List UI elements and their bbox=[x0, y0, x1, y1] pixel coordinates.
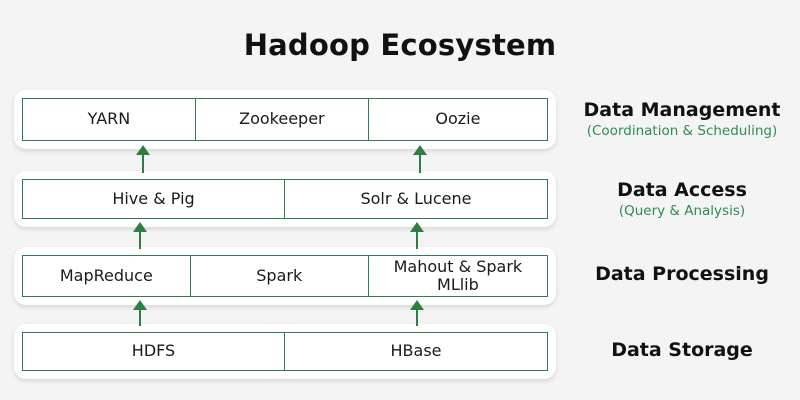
arrow-processing-to-access-right bbox=[410, 222, 424, 249]
layer-card-storage: HDFS HBase bbox=[14, 324, 556, 379]
page-title: Hadoop Ecosystem bbox=[0, 28, 800, 62]
arrow-access-to-management-left bbox=[136, 145, 150, 173]
layer-cell-yarn[interactable]: YARN bbox=[23, 99, 196, 140]
layer-cell-mapreduce[interactable]: MapReduce bbox=[23, 256, 191, 296]
layer-cell-solr-lucene[interactable]: Solr & Lucene bbox=[285, 180, 547, 218]
layer-table-storage: HDFS HBase bbox=[22, 332, 548, 371]
layer-cell-zookeeper[interactable]: Zookeeper bbox=[196, 99, 369, 140]
layer-card-access: Hive & Pig Solr & Lucene bbox=[14, 171, 556, 227]
arrow-shaft bbox=[142, 152, 144, 173]
arrow-storage-to-processing-right bbox=[410, 300, 424, 326]
arrow-shaft bbox=[419, 152, 421, 173]
side-label-access: Data Access (Query & Analysis) bbox=[566, 180, 798, 219]
arrow-storage-to-processing-left bbox=[133, 300, 147, 326]
layer-cell-oozie[interactable]: Oozie bbox=[369, 99, 547, 140]
arrow-access-to-management-right bbox=[413, 145, 427, 173]
side-label-storage-title: Data Storage bbox=[566, 340, 798, 362]
layer-table-processing: MapReduce Spark Mahout & Spark MLlib bbox=[22, 255, 548, 297]
layer-cell-hive-pig[interactable]: Hive & Pig bbox=[23, 180, 285, 218]
layer-card-processing: MapReduce Spark Mahout & Spark MLlib bbox=[14, 247, 556, 305]
layer-cell-spark[interactable]: Spark bbox=[191, 256, 369, 296]
arrow-shaft bbox=[139, 229, 141, 249]
side-label-access-title: Data Access bbox=[566, 180, 798, 202]
layer-cell-mahout-spark-mllib[interactable]: Mahout & Spark MLlib bbox=[369, 256, 547, 296]
layer-cell-hdfs[interactable]: HDFS bbox=[23, 333, 285, 370]
side-label-access-subtitle: (Query & Analysis) bbox=[566, 203, 798, 219]
layer-card-management: YARN Zookeeper Oozie bbox=[14, 90, 556, 149]
layer-cell-hbase[interactable]: HBase bbox=[285, 333, 547, 370]
arrow-shaft bbox=[139, 307, 141, 326]
layer-table-management: YARN Zookeeper Oozie bbox=[22, 98, 548, 141]
side-label-processing-title: Data Processing bbox=[566, 264, 798, 286]
side-label-processing: Data Processing bbox=[566, 264, 798, 287]
side-label-management-title: Data Management bbox=[566, 100, 798, 122]
side-label-management-subtitle: (Coordination & Scheduling) bbox=[566, 123, 798, 139]
side-label-storage: Data Storage bbox=[566, 340, 798, 363]
arrow-shaft bbox=[416, 229, 418, 249]
side-label-management: Data Management (Coordination & Scheduli… bbox=[566, 100, 798, 139]
arrow-processing-to-access-left bbox=[133, 222, 147, 249]
arrow-shaft bbox=[416, 307, 418, 326]
layer-table-access: Hive & Pig Solr & Lucene bbox=[22, 179, 548, 219]
